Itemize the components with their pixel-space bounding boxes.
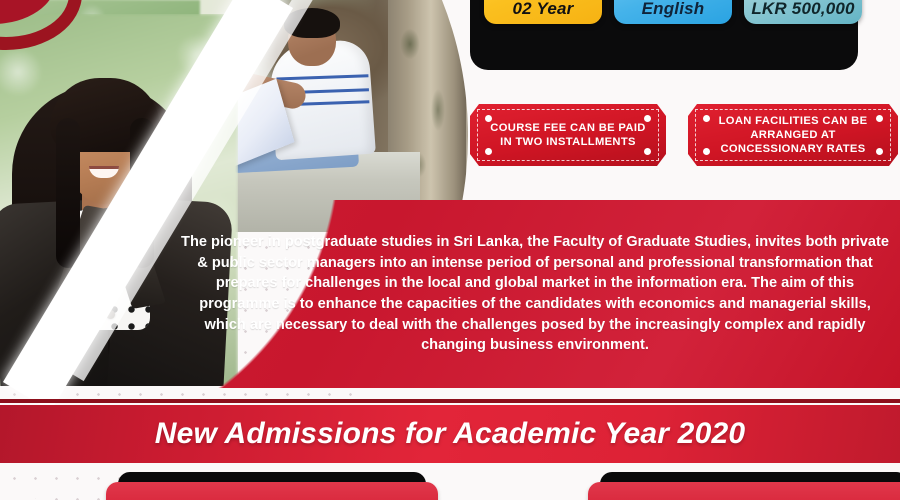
ribbon-dot-top-left [485, 115, 492, 122]
ribbon-badge-loan: LOAN FACILITIES CAN BE ARRANGED AT CONCE… [688, 104, 898, 166]
info-pill-medium[interactable]: Medium English [614, 0, 732, 24]
ribbon-badge-loan-text: LOAN FACILITIES CAN BE ARRANGED AT CONCE… [705, 114, 882, 157]
ribbon-dot-top-right [644, 115, 651, 122]
ribbon-dot-top-left [703, 115, 710, 122]
info-pills-group: Duration 02 Year Medium English Course F… [484, 0, 862, 24]
ribbon-dot-bottom-right [876, 148, 883, 155]
ribbon-dot-bottom-left [485, 148, 492, 155]
info-pill-duration-value: 02 Year [513, 0, 574, 18]
ribbon-dot-bottom-left [703, 148, 710, 155]
cta-button-left[interactable] [106, 482, 438, 500]
section-divider [0, 399, 900, 403]
cta-button-right[interactable] [588, 482, 900, 500]
info-pill-duration[interactable]: Duration 02 Year [484, 0, 602, 24]
info-pill-course-fee-value: LKR 500,000 [751, 0, 854, 18]
info-pill-medium-value: English [642, 0, 705, 18]
ribbon-badge-installments: COURSE FEE CAN BE PAID IN TWO INSTALLMEN… [470, 104, 666, 166]
description-text-wrapper: The pioneer in postgraduate studies in S… [0, 200, 900, 388]
description-paragraph: The pioneer in postgraduate studies in S… [179, 232, 891, 356]
admissions-headline: New Admissions for Academic Year 2020 [155, 417, 745, 451]
ribbon-line-1: COURSE FEE CAN BE PAID [490, 122, 645, 134]
ribbon-dot-top-right [876, 115, 883, 122]
admissions-banner: New Admissions for Academic Year 2020 [0, 405, 900, 463]
ribbon-line-3: CONCESSIONARY RATES [720, 143, 865, 155]
ribbon-dot-bottom-right [644, 148, 651, 155]
ribbon-line-2: ARRANGED AT [750, 129, 835, 141]
cta-button-row [0, 470, 900, 500]
flyer-canvas: Duration 02 Year Medium English Course F… [0, 0, 900, 500]
ribbon-badges-group: COURSE FEE CAN BE PAID IN TWO INSTALLMEN… [470, 104, 898, 166]
info-pill-course-fee[interactable]: Course Fee LKR 500,000 [744, 0, 862, 24]
ribbon-line-1: LOAN FACILITIES CAN BE [719, 115, 868, 127]
ribbon-line-2: IN TWO INSTALLMENTS [500, 136, 636, 148]
ribbon-badge-installments-text: COURSE FEE CAN BE PAID IN TWO INSTALLMEN… [476, 121, 659, 150]
